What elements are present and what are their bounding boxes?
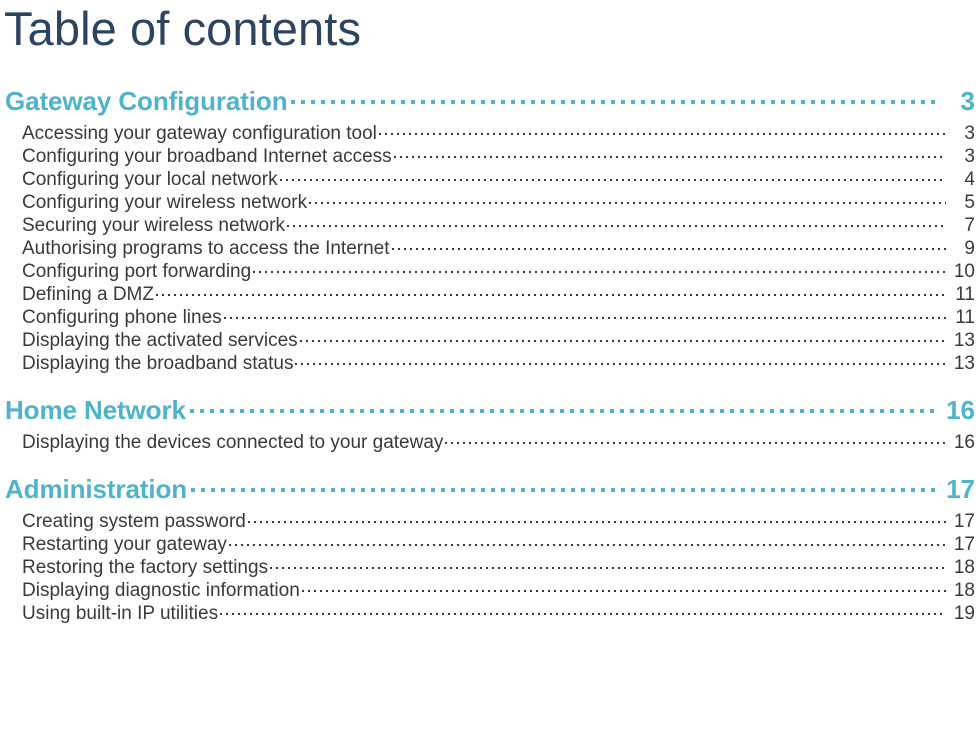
dot-leader [222, 304, 948, 323]
toc-entry-row[interactable]: Displaying the activated services13 [22, 327, 975, 350]
toc-entry-page-number: 3 [948, 123, 975, 145]
toc-entry-row[interactable]: Authorising programs to access the Inter… [22, 235, 975, 258]
toc-entry-row[interactable]: Configuring your broadband Internet acce… [22, 143, 975, 166]
toc-entry-page-number: 10 [948, 261, 975, 283]
toc-entry-label: Configuring phone lines [22, 307, 222, 329]
table-of-contents: Gateway Configuration3Accessing your gat… [0, 84, 978, 623]
toc-entry-label: Configuring port forwarding [22, 261, 251, 283]
toc-heading-page-number: 17 [939, 474, 975, 505]
toc-entry-label: Configuring your local network [22, 169, 278, 191]
dot-leader [390, 235, 948, 254]
toc-entry-row[interactable]: Configuring your local network4 [22, 166, 975, 189]
toc-entry-label: Restarting your gateway [22, 534, 227, 556]
dot-leader [307, 189, 948, 208]
toc-entry-row[interactable]: Restoring the factory settings18 [22, 554, 975, 577]
dot-leader [187, 472, 939, 498]
toc-entry-page-number: 18 [948, 580, 975, 602]
dot-leader [377, 120, 948, 139]
toc-entry-page-number: 13 [948, 330, 975, 352]
toc-page: Table of contents Gateway Configuration3… [0, 0, 978, 743]
dot-leader [268, 554, 948, 573]
dot-leader [154, 281, 948, 300]
toc-section: Administration17Creating system password… [0, 472, 978, 623]
page-title: Table of contents [4, 0, 361, 60]
dot-leader [251, 258, 948, 277]
toc-entry-list: Creating system password17Restarting you… [0, 508, 978, 623]
toc-entry-page-number: 17 [948, 534, 975, 556]
toc-entry-row[interactable]: Defining a DMZ11 [22, 281, 975, 304]
toc-entry-label: Creating system password [22, 511, 246, 533]
toc-entry-page-number: 19 [948, 603, 975, 625]
toc-heading-row[interactable]: Administration17 [0, 472, 978, 508]
dot-leader [392, 143, 948, 162]
toc-entry-page-number: 11 [948, 307, 975, 329]
toc-entry-label: Defining a DMZ [22, 284, 154, 306]
dot-leader [287, 84, 939, 110]
toc-entry-label: Displaying the activated services [22, 330, 298, 352]
toc-section: Home Network16Displaying the devices con… [0, 393, 978, 452]
dot-leader [186, 393, 939, 419]
dot-leader [278, 166, 948, 185]
dot-leader [285, 212, 948, 231]
toc-entry-page-number: 7 [948, 215, 975, 237]
toc-entry-page-number: 13 [948, 353, 975, 375]
toc-entry-page-number: 9 [948, 238, 975, 260]
toc-entry-label: Displaying diagnostic information [22, 580, 300, 602]
dot-leader [246, 508, 948, 527]
toc-entry-row[interactable]: Creating system password17 [22, 508, 975, 531]
toc-entry-row[interactable]: Using built-in IP utilities19 [22, 600, 975, 623]
toc-entry-row[interactable]: Configuring port forwarding10 [22, 258, 975, 281]
toc-heading-row[interactable]: Home Network16 [0, 393, 978, 429]
dot-leader [298, 327, 948, 346]
toc-section: Gateway Configuration3Accessing your gat… [0, 84, 978, 373]
toc-entry-label: Accessing your gateway configuration too… [22, 123, 377, 145]
toc-heading-page-number: 16 [939, 395, 975, 426]
dot-leader [300, 577, 948, 596]
toc-entry-page-number: 5 [948, 192, 975, 214]
toc-entry-label: Displaying the broadband status [22, 353, 293, 375]
toc-entry-label: Configuring your broadband Internet acce… [22, 146, 392, 168]
toc-entry-page-number: 3 [948, 146, 975, 168]
toc-entry-page-number: 11 [948, 284, 975, 306]
dot-leader [293, 350, 948, 369]
toc-entry-row[interactable]: Displaying diagnostic information18 [22, 577, 975, 600]
toc-entry-page-number: 16 [948, 432, 975, 454]
toc-entry-row[interactable]: Configuring phone lines11 [22, 304, 975, 327]
dot-leader [218, 600, 948, 619]
toc-heading-label: Administration [5, 474, 187, 505]
toc-entry-row[interactable]: Displaying the broadband status13 [22, 350, 975, 373]
toc-heading-page-number: 3 [939, 86, 975, 117]
toc-entry-label: Displaying the devices connected to your… [22, 432, 443, 454]
toc-entry-label: Configuring your wireless network [22, 192, 307, 214]
toc-entry-row[interactable]: Restarting your gateway17 [22, 531, 975, 554]
toc-entry-row[interactable]: Securing your wireless network7 [22, 212, 975, 235]
toc-entry-page-number: 4 [948, 169, 975, 191]
toc-entry-label: Securing your wireless network [22, 215, 285, 237]
toc-entry-page-number: 17 [948, 511, 975, 533]
toc-heading-label: Home Network [5, 395, 186, 426]
toc-heading-label: Gateway Configuration [5, 86, 287, 117]
dot-leader [227, 531, 948, 550]
toc-entry-label: Using built-in IP utilities [22, 603, 218, 625]
toc-entry-row[interactable]: Configuring your wireless network5 [22, 189, 975, 212]
toc-entry-row[interactable]: Accessing your gateway configuration too… [22, 120, 975, 143]
toc-entry-label: Authorising programs to access the Inter… [22, 238, 390, 260]
toc-heading-row[interactable]: Gateway Configuration3 [0, 84, 978, 120]
toc-entry-page-number: 18 [948, 557, 975, 579]
toc-entry-list: Displaying the devices connected to your… [0, 429, 978, 452]
toc-entry-label: Restoring the factory settings [22, 557, 268, 579]
toc-entry-list: Accessing your gateway configuration too… [0, 120, 978, 373]
toc-entry-row[interactable]: Displaying the devices connected to your… [22, 429, 975, 452]
dot-leader [443, 429, 948, 448]
